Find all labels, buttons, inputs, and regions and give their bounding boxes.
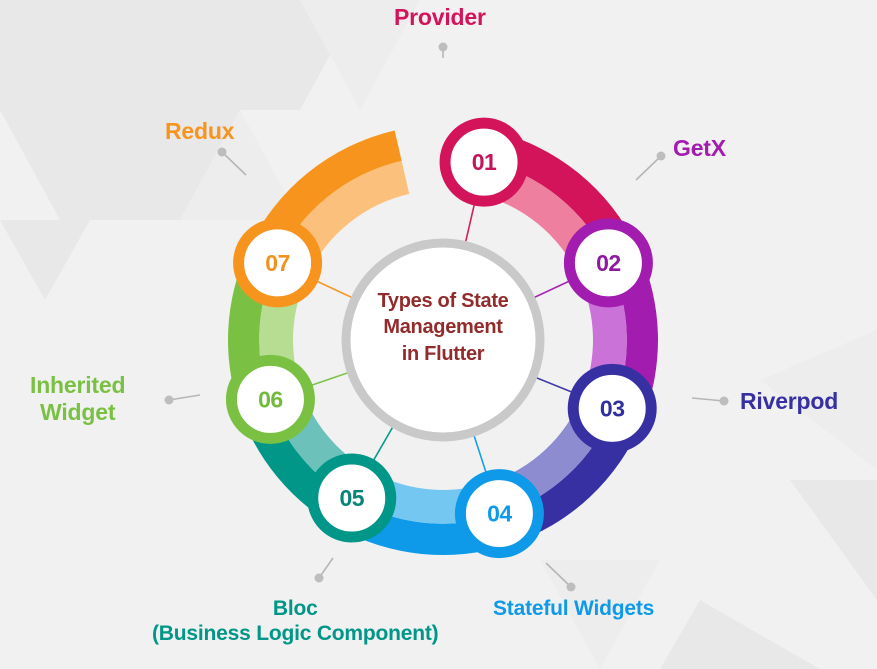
- badge-number-04: 04: [487, 501, 512, 527]
- label-line: Widget: [30, 399, 125, 426]
- center-title-line-2: Management: [343, 314, 543, 340]
- leader-dot-07: [218, 148, 227, 157]
- center-title: Types of State Management in Flutter: [343, 288, 543, 367]
- leader-line-03: [692, 398, 724, 401]
- leader-dot-06: [165, 396, 174, 405]
- badge-number-02: 02: [596, 250, 621, 276]
- number-badge-05[interactable]: 05: [313, 459, 391, 537]
- leader-dot-02: [657, 152, 666, 161]
- label-getx: GetX: [673, 135, 726, 162]
- leader-dot-04: [567, 583, 576, 592]
- badge-number-03: 03: [600, 395, 625, 421]
- number-badge-03[interactable]: 03: [573, 369, 651, 447]
- label-line: Provider: [394, 4, 486, 31]
- label-line: Bloc: [152, 597, 438, 622]
- label-line: Redux: [165, 118, 234, 145]
- label-stateful-widgets: Stateful Widgets: [493, 597, 654, 622]
- leader-line-04: [546, 563, 571, 587]
- center-title-line-3: in Flutter: [343, 341, 543, 367]
- label-riverpod: Riverpod: [740, 388, 838, 415]
- label-provider: Provider: [394, 4, 486, 31]
- leader-dot-05: [315, 574, 324, 583]
- label-line: GetX: [673, 135, 726, 162]
- label-inherited-widget: InheritedWidget: [30, 372, 125, 426]
- leader-line-07: [222, 152, 246, 175]
- center-title-line-1: Types of State: [343, 288, 543, 314]
- leader-dot-03: [720, 397, 729, 406]
- label-line: Riverpod: [740, 388, 838, 415]
- infographic-canvas: 01020304050607 Types of State Management…: [0, 0, 877, 669]
- badge-number-07: 07: [265, 250, 290, 276]
- leader-line-06: [169, 395, 200, 400]
- label-line: (Business Logic Component): [152, 622, 438, 647]
- label-line: Stateful Widgets: [493, 597, 654, 622]
- leader-line-02: [636, 156, 661, 180]
- label-bloc: Bloc(Business Logic Component): [152, 597, 438, 647]
- badge-number-06: 06: [258, 386, 283, 412]
- number-badge-04[interactable]: 04: [460, 475, 538, 553]
- badge-number-01: 01: [472, 149, 497, 175]
- label-redux: Redux: [165, 118, 234, 145]
- number-badge-07[interactable]: 07: [239, 224, 317, 302]
- label-line: Inherited: [30, 372, 125, 399]
- badge-number-05: 05: [339, 485, 364, 511]
- number-badge-02[interactable]: 02: [569, 224, 647, 302]
- number-badge-06[interactable]: 06: [231, 360, 309, 438]
- number-badge-01[interactable]: 01: [445, 123, 523, 201]
- leader-dot-01: [439, 43, 448, 52]
